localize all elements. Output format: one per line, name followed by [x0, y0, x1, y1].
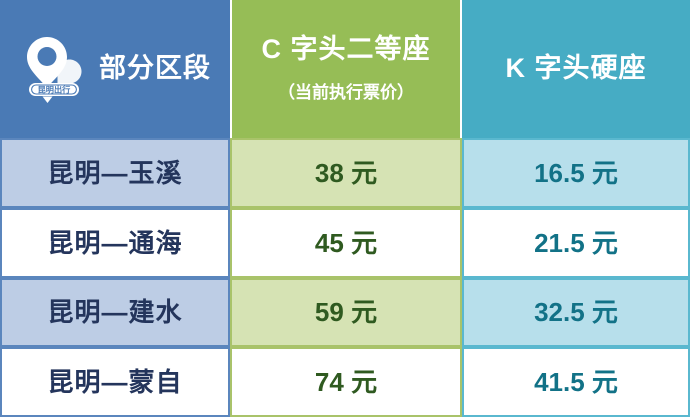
header-cell-c-train: C 字头二等座 （当前执行票价）	[230, 0, 462, 138]
cell-c-price: 74 元	[230, 347, 462, 417]
header-cell-segment: 昆明出行 部分区段	[0, 0, 230, 138]
cell-segment: 昆明—玉溪	[0, 138, 230, 208]
table-body: 昆明—玉溪 38 元 16.5 元 昆明—通海 45 元 21.5 元 昆明—建…	[0, 138, 690, 417]
cell-segment: 昆明—建水	[0, 278, 230, 348]
table-row: 昆明—蒙自 74 元 41.5 元	[0, 347, 690, 417]
logo-badge-text: 昆明出行	[38, 85, 71, 95]
header-label-segment: 部分区段	[99, 54, 211, 84]
fare-comparison-table: 昆明出行 部分区段 C 字头二等座 （当前执行票价） K 字头硬座 昆明—玉溪 …	[0, 0, 690, 417]
cell-k-price: 21.5 元	[462, 208, 690, 278]
header-sublabel-c-train: （当前执行票价）	[278, 78, 414, 103]
table-header-row: 昆明出行 部分区段 C 字头二等座 （当前执行票价） K 字头硬座	[0, 0, 690, 138]
table-row: 昆明—玉溪 38 元 16.5 元	[0, 138, 690, 208]
table-row: 昆明—通海 45 元 21.5 元	[0, 208, 690, 278]
cell-c-price: 59 元	[230, 278, 462, 348]
cell-k-price: 16.5 元	[462, 138, 690, 208]
header-cell-k-train: K 字头硬座	[462, 0, 690, 138]
cell-k-price: 32.5 元	[462, 278, 690, 348]
header-label-c-train: C 字头二等座	[262, 35, 431, 65]
cell-k-price: 41.5 元	[462, 347, 690, 417]
cell-segment: 昆明—蒙自	[0, 347, 230, 417]
cell-c-price: 45 元	[230, 208, 462, 278]
cell-segment: 昆明—通海	[0, 208, 230, 278]
header-label-k-train: K 字头硬座	[506, 54, 647, 84]
cell-c-price: 38 元	[230, 138, 462, 208]
map-pin-icon: 昆明出行	[23, 33, 89, 105]
table-row: 昆明—建水 59 元 32.5 元	[0, 278, 690, 348]
